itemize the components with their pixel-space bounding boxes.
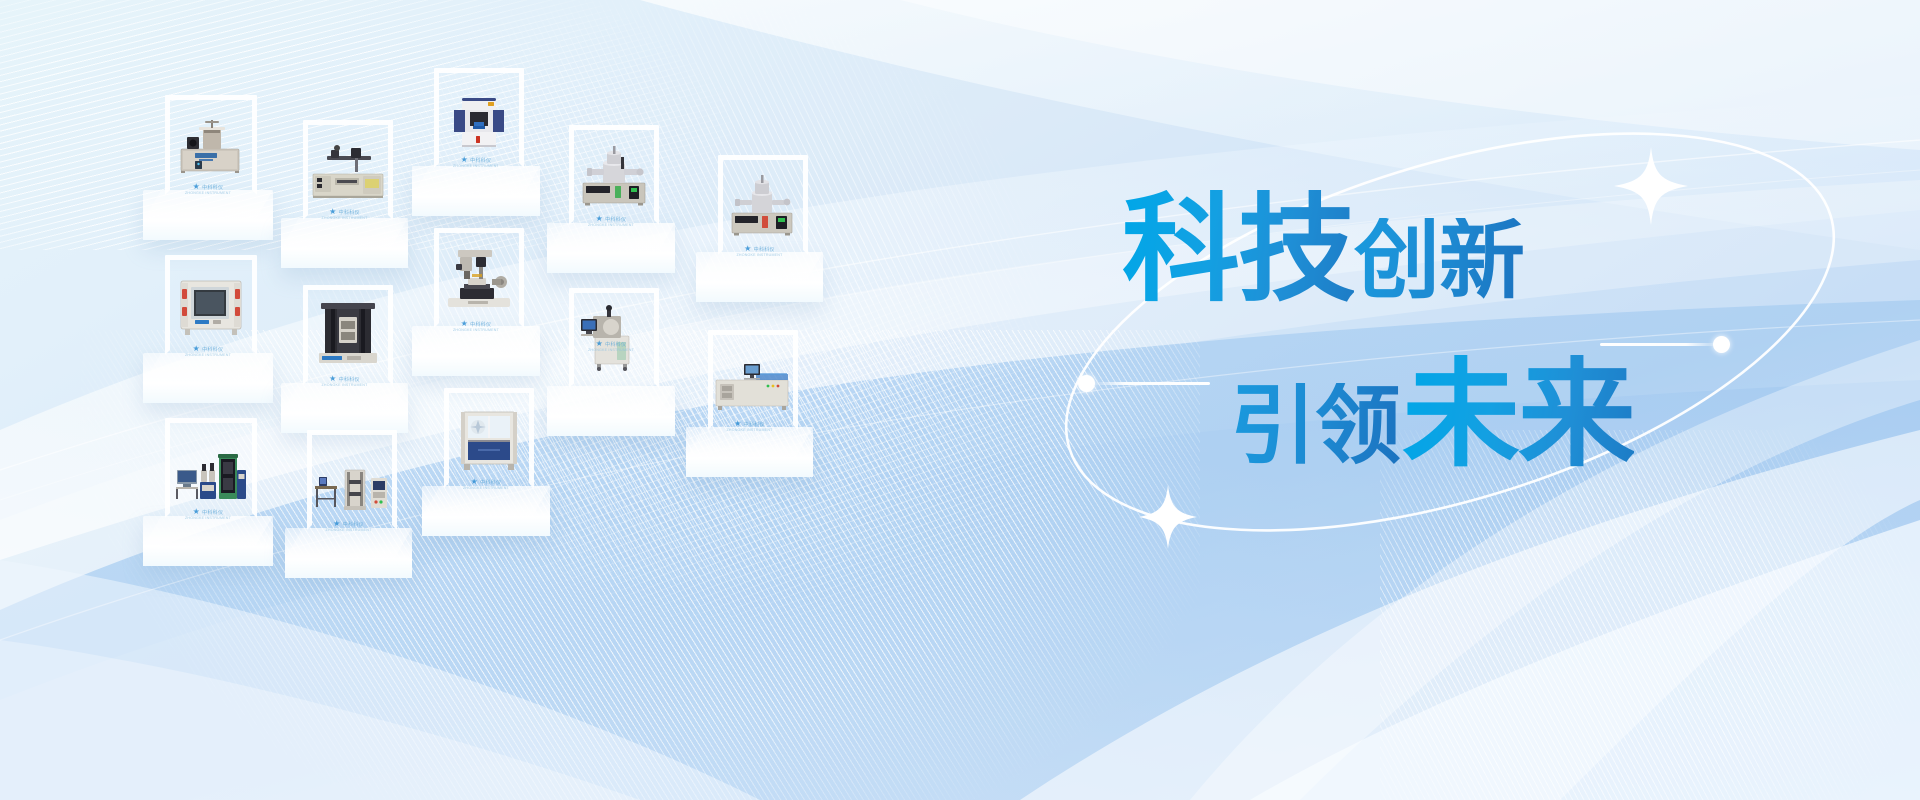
product-card[interactable]: ★ 中科科仪 ZHONGKE INSTRUMENT bbox=[143, 95, 273, 240]
brand-sub: ZHONGKE INSTRUMENT bbox=[588, 223, 634, 227]
brand-name: 中科科仪 bbox=[343, 521, 364, 528]
brand-sub: ZHONGKE INSTRUMENT bbox=[463, 486, 509, 490]
brand-sub: ZHONGKE INSTRUMENT bbox=[453, 328, 499, 332]
brand-watermark: ★ 中科科仪 bbox=[744, 245, 775, 253]
brand-watermark: ★ 中科科仪 bbox=[471, 478, 502, 486]
headline-block: 科技创新 引领未来 bbox=[1100, 170, 1860, 590]
brand-sub: ZHONGKE INSTRUMENT bbox=[322, 383, 368, 387]
brand-name: 中科科仪 bbox=[202, 509, 223, 516]
product-card[interactable]: ★ 中科科仪 ZHONGKE INSTRUMENT bbox=[686, 330, 813, 477]
product-image bbox=[573, 143, 655, 209]
brand-star-icon: ★ bbox=[461, 320, 468, 328]
brand-watermark: ★ 中科科仪 bbox=[193, 183, 224, 191]
product-card[interactable]: ★ 中科科仪 ZHONGKE INSTRUMENT bbox=[547, 288, 675, 436]
brand-sub: ZHONGKE INSTRUMENT bbox=[453, 164, 499, 168]
brand-watermark: ★ 中科科仪 bbox=[333, 520, 364, 528]
brand-sub: ZHONGKE INSTRUMENT bbox=[185, 191, 231, 195]
brand-star-icon: ★ bbox=[193, 508, 200, 516]
product-card[interactable]: ★ 中科科仪 ZHONGKE INSTRUMENT bbox=[422, 388, 550, 536]
product-image bbox=[573, 302, 655, 372]
hero-banner: ★ 中科科仪 ZHONGKE INSTRUMENT bbox=[0, 0, 1920, 800]
product-image bbox=[171, 273, 251, 339]
product-image bbox=[307, 140, 389, 202]
product-image bbox=[173, 117, 251, 179]
headline-line1-secondary: 创新 bbox=[1354, 218, 1524, 304]
brand-star-icon: ★ bbox=[744, 245, 751, 253]
brand-star-icon: ★ bbox=[596, 340, 603, 348]
product-card[interactable]: ★ 中科科仪 ZHONGKE INSTRUMENT bbox=[547, 125, 675, 273]
product-image bbox=[440, 90, 518, 152]
brand-watermark: ★ 中科科仪 bbox=[734, 420, 765, 428]
product-image bbox=[448, 406, 530, 472]
product-card[interactable]: ★ 中科科仪 ZHONGKE INSTRUMENT bbox=[143, 418, 273, 566]
brand-watermark: ★ 中科科仪 bbox=[596, 340, 627, 348]
brand-sub: ZHONGKE INSTRUMENT bbox=[185, 353, 231, 357]
product-card[interactable]: ★ 中科科仪 ZHONGKE INSTRUMENT bbox=[412, 228, 540, 376]
brand-star-icon: ★ bbox=[461, 156, 468, 164]
brand-name: 中科科仪 bbox=[202, 184, 223, 191]
brand-star-icon: ★ bbox=[329, 208, 336, 216]
brand-name: 中科科仪 bbox=[605, 216, 626, 223]
product-image bbox=[171, 440, 251, 502]
brand-star-icon: ★ bbox=[333, 520, 340, 528]
product-card[interactable]: ★ 中科科仪 ZHONGKE INSTRUMENT bbox=[412, 68, 540, 216]
brand-watermark: ★ 中科科仪 bbox=[329, 208, 360, 216]
brand-name: 中科科仪 bbox=[339, 209, 360, 216]
brand-name: 中科科仪 bbox=[202, 346, 223, 353]
brand-watermark: ★ 中科科仪 bbox=[329, 375, 360, 383]
brand-watermark: ★ 中科科仪 bbox=[461, 156, 492, 164]
product-card[interactable]: ★ 中科科仪 ZHONGKE INSTRUMENT bbox=[281, 285, 408, 433]
headline-line-2: 引领未来 bbox=[1230, 355, 1634, 473]
brand-star-icon: ★ bbox=[596, 215, 603, 223]
brand-sub: ZHONGKE INSTRUMENT bbox=[185, 516, 231, 520]
brand-star-icon: ★ bbox=[329, 375, 336, 383]
brand-sub: ZHONGKE INSTRUMENT bbox=[588, 348, 634, 352]
brand-star-icon: ★ bbox=[193, 345, 200, 353]
brand-sub: ZHONGKE INSTRUMENT bbox=[727, 428, 773, 432]
product-card[interactable]: ★ 中科科仪 ZHONGKE INSTRUMENT bbox=[696, 155, 823, 302]
headline-line-1: 科技创新 bbox=[1122, 190, 1524, 308]
brand-name: 中科科仪 bbox=[480, 479, 501, 486]
headline-line2-emphasis: 未来 bbox=[1402, 355, 1634, 473]
headline-line2-secondary: 引领 bbox=[1230, 383, 1400, 469]
brand-name: 中科科仪 bbox=[339, 376, 360, 383]
product-image bbox=[438, 242, 520, 312]
brand-name: 中科科仪 bbox=[605, 341, 626, 348]
brand-name: 中科科仪 bbox=[744, 421, 765, 428]
brand-name: 中科科仪 bbox=[470, 321, 491, 328]
brand-star-icon: ★ bbox=[193, 183, 200, 191]
product-image bbox=[309, 458, 393, 514]
product-card[interactable]: ★ 中科科仪 ZHONGKE INSTRUMENT bbox=[143, 255, 273, 403]
product-image bbox=[311, 301, 385, 369]
brand-watermark: ★ 中科科仪 bbox=[596, 215, 627, 223]
brand-watermark: ★ 中科科仪 bbox=[193, 508, 224, 516]
brand-sub: ZHONGKE INSTRUMENT bbox=[326, 528, 372, 532]
product-image bbox=[710, 352, 794, 414]
product-showcase: ★ 中科科仪 ZHONGKE INSTRUMENT bbox=[0, 0, 980, 800]
product-image bbox=[722, 173, 802, 239]
headline-line1-emphasis: 科技 bbox=[1122, 190, 1354, 308]
product-card[interactable]: ★ 中科科仪 ZHONGKE INSTRUMENT bbox=[281, 120, 408, 268]
brand-star-icon: ★ bbox=[734, 420, 741, 428]
product-card[interactable]: ★ 中科科仪 ZHONGKE INSTRUMENT bbox=[285, 430, 412, 578]
brand-sub: ZHONGKE INSTRUMENT bbox=[737, 253, 783, 257]
brand-name: 中科科仪 bbox=[754, 246, 775, 253]
brand-sub: ZHONGKE INSTRUMENT bbox=[322, 216, 368, 220]
brand-name: 中科科仪 bbox=[470, 157, 491, 164]
brand-star-icon: ★ bbox=[471, 478, 478, 486]
brand-watermark: ★ 中科科仪 bbox=[193, 345, 224, 353]
brand-watermark: ★ 中科科仪 bbox=[461, 320, 492, 328]
